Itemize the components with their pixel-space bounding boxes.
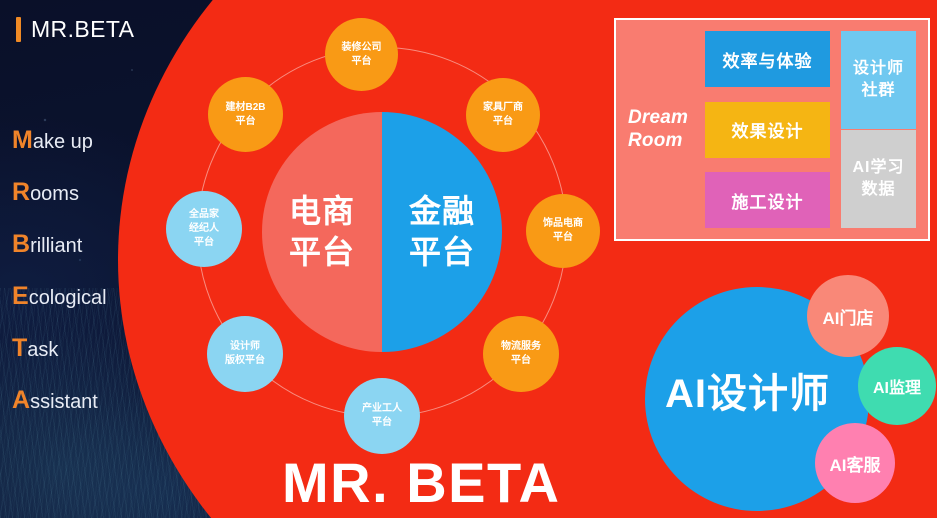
dream-room-panel: Dream Room 效率与体验效果设计施工设计 设计师社群AI学习数据 <box>614 18 930 241</box>
dream-box-label: 施工设计 <box>732 188 804 213</box>
acronym-capital: R <box>12 178 30 206</box>
ai-customer-service-circle: AI客服 <box>815 423 895 503</box>
acronym-word: ake up <box>33 131 93 153</box>
brand-logo: MR.BETA <box>16 16 134 43</box>
eco-node-industrial-worker[interactable]: 产业工人平台 <box>344 378 420 454</box>
eco-node-label-line: 饰品电商 <box>543 217 583 231</box>
acronym-row-t: Task <box>12 336 107 361</box>
eco-node-label-line: 平台 <box>372 416 392 430</box>
dream-box-label: 效率与体验 <box>723 47 813 72</box>
acronym-capital: M <box>12 126 33 154</box>
ai-store-circle: AI门店 <box>807 275 889 357</box>
core-half-ecommerce: 电商 平台 <box>262 112 382 352</box>
acronym-capital: A <box>12 386 30 414</box>
dream-box-construction-design[interactable]: 施工设计 <box>705 172 830 228</box>
ecosystem-diagram: 电商 平台 金融 平台 装修公司平台建材B2B平台家具厂商平台全品家经纪人平台饰… <box>152 2 612 462</box>
core-ecommerce-line1: 电商 <box>289 191 355 232</box>
dream-box-designer-community[interactable]: 设计师社群 <box>841 31 916 129</box>
ai-supervision-circle: AI监理 <box>858 347 936 425</box>
dream-box-effect-design[interactable]: 效果设计 <box>705 102 830 158</box>
eco-node-label-line: 平台 <box>553 231 573 245</box>
eco-node-logistics-service[interactable]: 物流服务平台 <box>483 316 559 392</box>
ai-customer-service-label: AI客服 <box>830 451 881 476</box>
eco-node-decor-ecommerce[interactable]: 饰品电商平台 <box>526 194 600 268</box>
eco-node-label-line: 平台 <box>236 115 256 129</box>
dream-box-label-line: AI学习 <box>852 157 904 179</box>
acronym-capital: B <box>12 230 30 258</box>
eco-node-label-line: 经纪人 <box>189 222 219 236</box>
eco-node-label-line: 版权平台 <box>225 354 265 368</box>
acronym-row-e: Ecological <box>12 284 107 309</box>
acronym-capital: E <box>12 282 29 310</box>
eco-node-label-line: 平台 <box>493 115 513 129</box>
acronym-row-a: Assistant <box>12 388 107 413</box>
eco-node-label-line: 平台 <box>352 55 372 69</box>
dream-box-ai-learning-data[interactable]: AI学习数据 <box>841 130 916 228</box>
dream-title-line2: Room <box>628 130 688 152</box>
logo-text: MR.BETA <box>31 16 134 43</box>
eco-node-label-line: 装修公司 <box>342 41 382 55</box>
dream-box-efficiency-experience[interactable]: 效率与体验 <box>705 31 830 87</box>
dream-room-right-column: 设计师社群AI学习数据 <box>841 29 916 230</box>
eco-node-label-line: 平台 <box>194 236 214 250</box>
dream-box-label-line: 社群 <box>861 80 895 102</box>
eco-node-furniture-manufacturer[interactable]: 家具厂商平台 <box>466 78 540 152</box>
eco-node-label-line: 物流服务 <box>501 340 541 354</box>
dream-room-title-wrap: Dream Room <box>628 29 694 230</box>
ai-designer-cluster: AI门店 AI监理 AI客服 AI设计师 <box>615 265 937 518</box>
acronym-word: ooms <box>30 183 79 205</box>
core-circle: 电商 平台 金融 平台 <box>262 112 502 352</box>
ai-store-label: AI门店 <box>823 304 874 329</box>
dream-room-title: Dream Room <box>628 107 688 152</box>
dream-room-middle-column: 效率与体验效果设计施工设计 <box>705 29 830 230</box>
eco-node-label-line: 全品家 <box>189 208 219 222</box>
eco-node-designer-copyright[interactable]: 设计师版权平台 <box>207 316 283 392</box>
eco-node-label-line: 产业工人 <box>362 402 402 416</box>
acronym-word: cological <box>29 287 107 309</box>
dream-box-label-line: 数据 <box>861 179 895 201</box>
eco-node-label-line: 平台 <box>511 354 531 368</box>
eco-node-all-category-broker[interactable]: 全品家经纪人平台 <box>166 191 242 267</box>
dream-title-line1: Dream <box>628 107 688 129</box>
dream-box-label-line: 设计师 <box>853 58 904 80</box>
slide-stage: MR.BETA Make upRoomsBrilliantEcologicalT… <box>0 0 937 518</box>
eco-node-decoration-company[interactable]: 装修公司平台 <box>325 18 398 91</box>
eco-node-building-material-b2b[interactable]: 建材B2B平台 <box>208 77 283 152</box>
bottom-wordmark: MR. BETA <box>282 455 561 511</box>
eco-node-label-line: 设计师 <box>230 340 260 354</box>
core-half-finance: 金融 平台 <box>382 112 502 352</box>
eco-node-label-line: 家具厂商 <box>483 101 523 115</box>
dream-box-label: 效果设计 <box>732 117 804 142</box>
acronym-row-b: Brilliant <box>12 232 107 257</box>
core-finance-line2: 平台 <box>409 232 475 273</box>
ai-supervision-label: AI监理 <box>873 374 921 398</box>
acronym-list: Make upRoomsBrilliantEcologicalTaskAssis… <box>12 128 107 440</box>
logo-accent-bar <box>16 17 21 42</box>
acronym-row-m: Make up <box>12 128 107 153</box>
core-ecommerce-line2: 平台 <box>289 232 355 273</box>
acronym-row-r: Rooms <box>12 180 107 205</box>
acronym-word: rilliant <box>30 235 82 257</box>
acronym-capital: T <box>12 334 27 362</box>
eco-node-label-line: 建材B2B <box>225 101 265 115</box>
acronym-word: ssistant <box>30 391 98 413</box>
acronym-word: ask <box>27 339 58 361</box>
core-finance-line1: 金融 <box>409 191 475 232</box>
